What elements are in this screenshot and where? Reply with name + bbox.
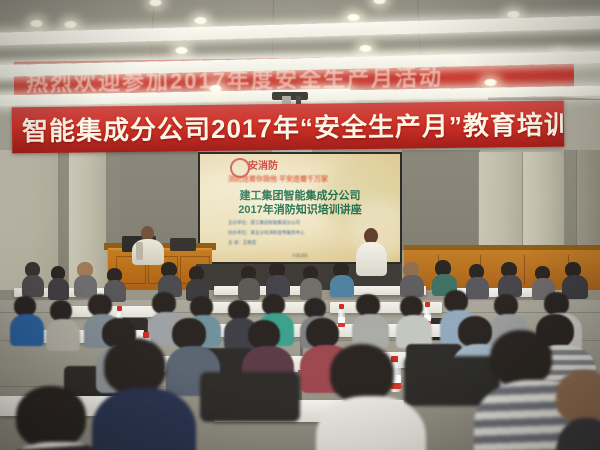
table-row [214, 286, 310, 295]
wall-seam [106, 150, 120, 250]
laptop-on-podium [170, 238, 196, 251]
table-row [330, 324, 458, 337]
photo-scene: 热烈欢迎参加2017年度安全生产月活动 智能集成分公司2017年“安全生产月”教… [0, 0, 600, 450]
wall-recess [120, 150, 198, 246]
wall-recess [402, 150, 480, 250]
downlight-icon [208, 84, 223, 93]
downlight-icon [358, 44, 373, 53]
downlight-icon [29, 19, 44, 28]
downlight-icon [63, 20, 78, 29]
downlight-icon [193, 16, 208, 25]
downlight-icon [346, 13, 361, 22]
downlight-icon [506, 10, 521, 19]
downlight-icon [483, 78, 498, 87]
chair [200, 372, 300, 422]
main-banner-text: 智能集成分公司2017年“安全生产月”教育培训 [22, 105, 562, 149]
main-banner: 智能集成分公司2017年“安全生产月”教育培训 [12, 101, 565, 154]
water-bottle [338, 304, 345, 330]
downlight-icon [174, 46, 189, 55]
